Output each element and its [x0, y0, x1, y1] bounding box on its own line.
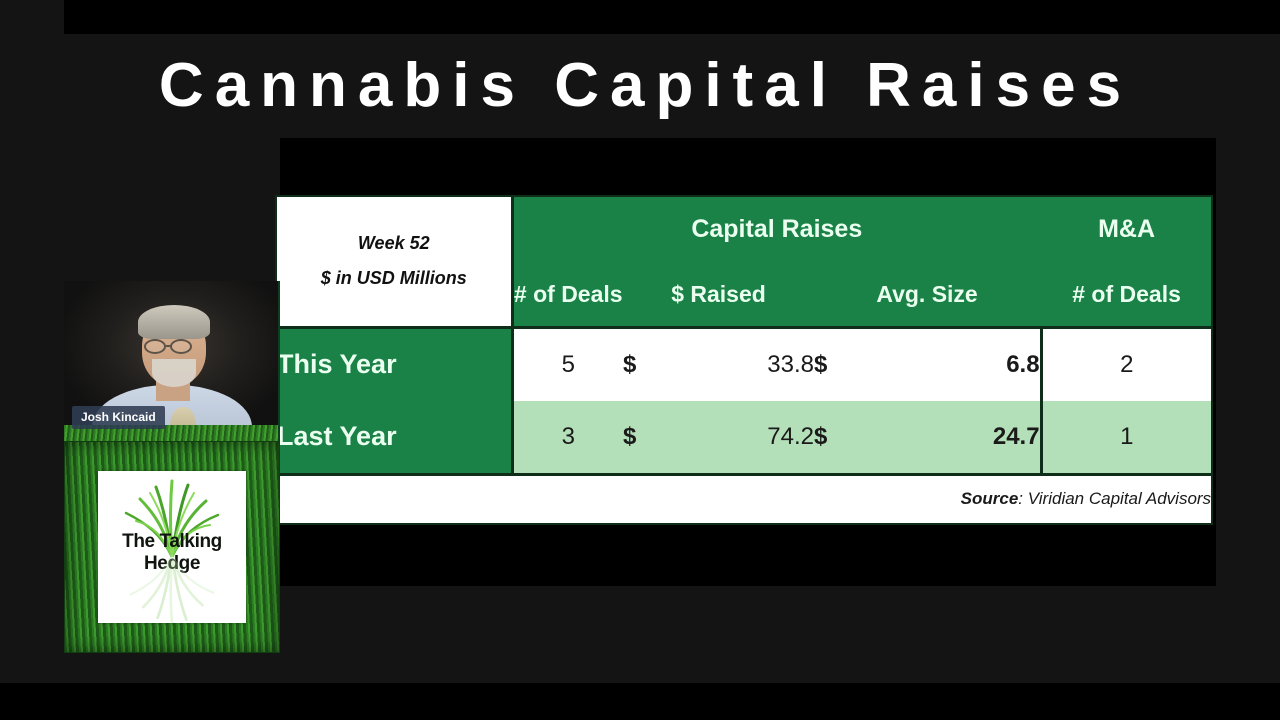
brand-logo-tile[interactable]: The Talking Hedge	[64, 441, 280, 653]
cell-last-year-avg-size: 24.7	[876, 401, 1041, 475]
brand-logo-panel: The Talking Hedge	[98, 471, 246, 623]
cell-last-year-raised: 74.2	[685, 401, 814, 475]
cell-this-year-deals: 5	[512, 327, 623, 401]
stub-line-2: $ in USD Millions	[277, 269, 511, 288]
cell-last-year-raised-currency: $	[623, 401, 685, 475]
bottom-black-bar	[0, 683, 1280, 720]
capital-raises-table: Week 52 $ in USD Millions Capital Raises…	[275, 195, 1213, 525]
row-label-this-year: This Year	[277, 327, 512, 401]
table-group-header-row: Week 52 $ in USD Millions Capital Raises…	[277, 197, 1211, 263]
group-header-ma: M&A	[1041, 197, 1211, 263]
screen: Cannabis Capital Raises Week 52 $ in USD…	[0, 0, 1280, 720]
eyeglasses-bridge-icon	[166, 345, 172, 347]
right-letterbox-rail	[1216, 34, 1280, 683]
source-value: Viridian Capital Advisors	[1028, 489, 1211, 508]
row-label-last-year: Last Year	[277, 401, 512, 475]
source-separator: :	[1018, 489, 1027, 508]
column-header-raised: $ Raised	[623, 263, 814, 328]
group-header-capital-raises: Capital Raises	[512, 197, 1041, 263]
left-letterbox-rail	[0, 0, 64, 683]
column-header-deals: # of Deals	[512, 263, 623, 328]
table-stub-cell: Week 52 $ in USD Millions	[277, 197, 512, 327]
column-header-ma-deals: # of Deals	[1041, 263, 1211, 328]
table-row: Last Year 3 $ 74.2 $ 24.7 1	[277, 401, 1211, 475]
title-banner: Cannabis Capital Raises	[64, 34, 1216, 138]
source-note: Source: Viridian Capital Advisors	[277, 474, 1211, 523]
eyeglasses-left-lens-icon	[144, 339, 166, 354]
eyeglasses-right-lens-icon	[170, 339, 192, 354]
source-label: Source	[961, 489, 1019, 508]
table-row: This Year 5 $ 33.8 $ 6.8 2	[277, 327, 1211, 401]
webcam-tile[interactable]: Josh Kincaid	[64, 281, 280, 441]
participant-name-label: Josh Kincaid	[72, 406, 165, 429]
cell-last-year-ma-deals: 1	[1041, 401, 1211, 475]
grass-reflection-icon	[106, 555, 238, 623]
cell-last-year-deals: 3	[512, 401, 623, 475]
page-title: Cannabis Capital Raises	[148, 55, 1132, 117]
stub-line-1: Week 52	[277, 234, 511, 253]
cell-last-year-avg-currency: $	[814, 401, 876, 475]
top-black-bar	[64, 0, 1280, 34]
column-header-avg-size: Avg. Size	[814, 263, 1041, 328]
cell-this-year-raised: 33.8	[685, 327, 814, 401]
cell-this-year-avg-size: 6.8	[876, 327, 1041, 401]
webcam-person-hair	[138, 305, 210, 339]
webcam-person-beard	[152, 359, 196, 387]
cell-this-year-raised-currency: $	[623, 327, 685, 401]
cell-this-year-ma-deals: 2	[1041, 327, 1211, 401]
cell-this-year-avg-currency: $	[814, 327, 876, 401]
table-source-row: Source: Viridian Capital Advisors	[277, 474, 1211, 523]
